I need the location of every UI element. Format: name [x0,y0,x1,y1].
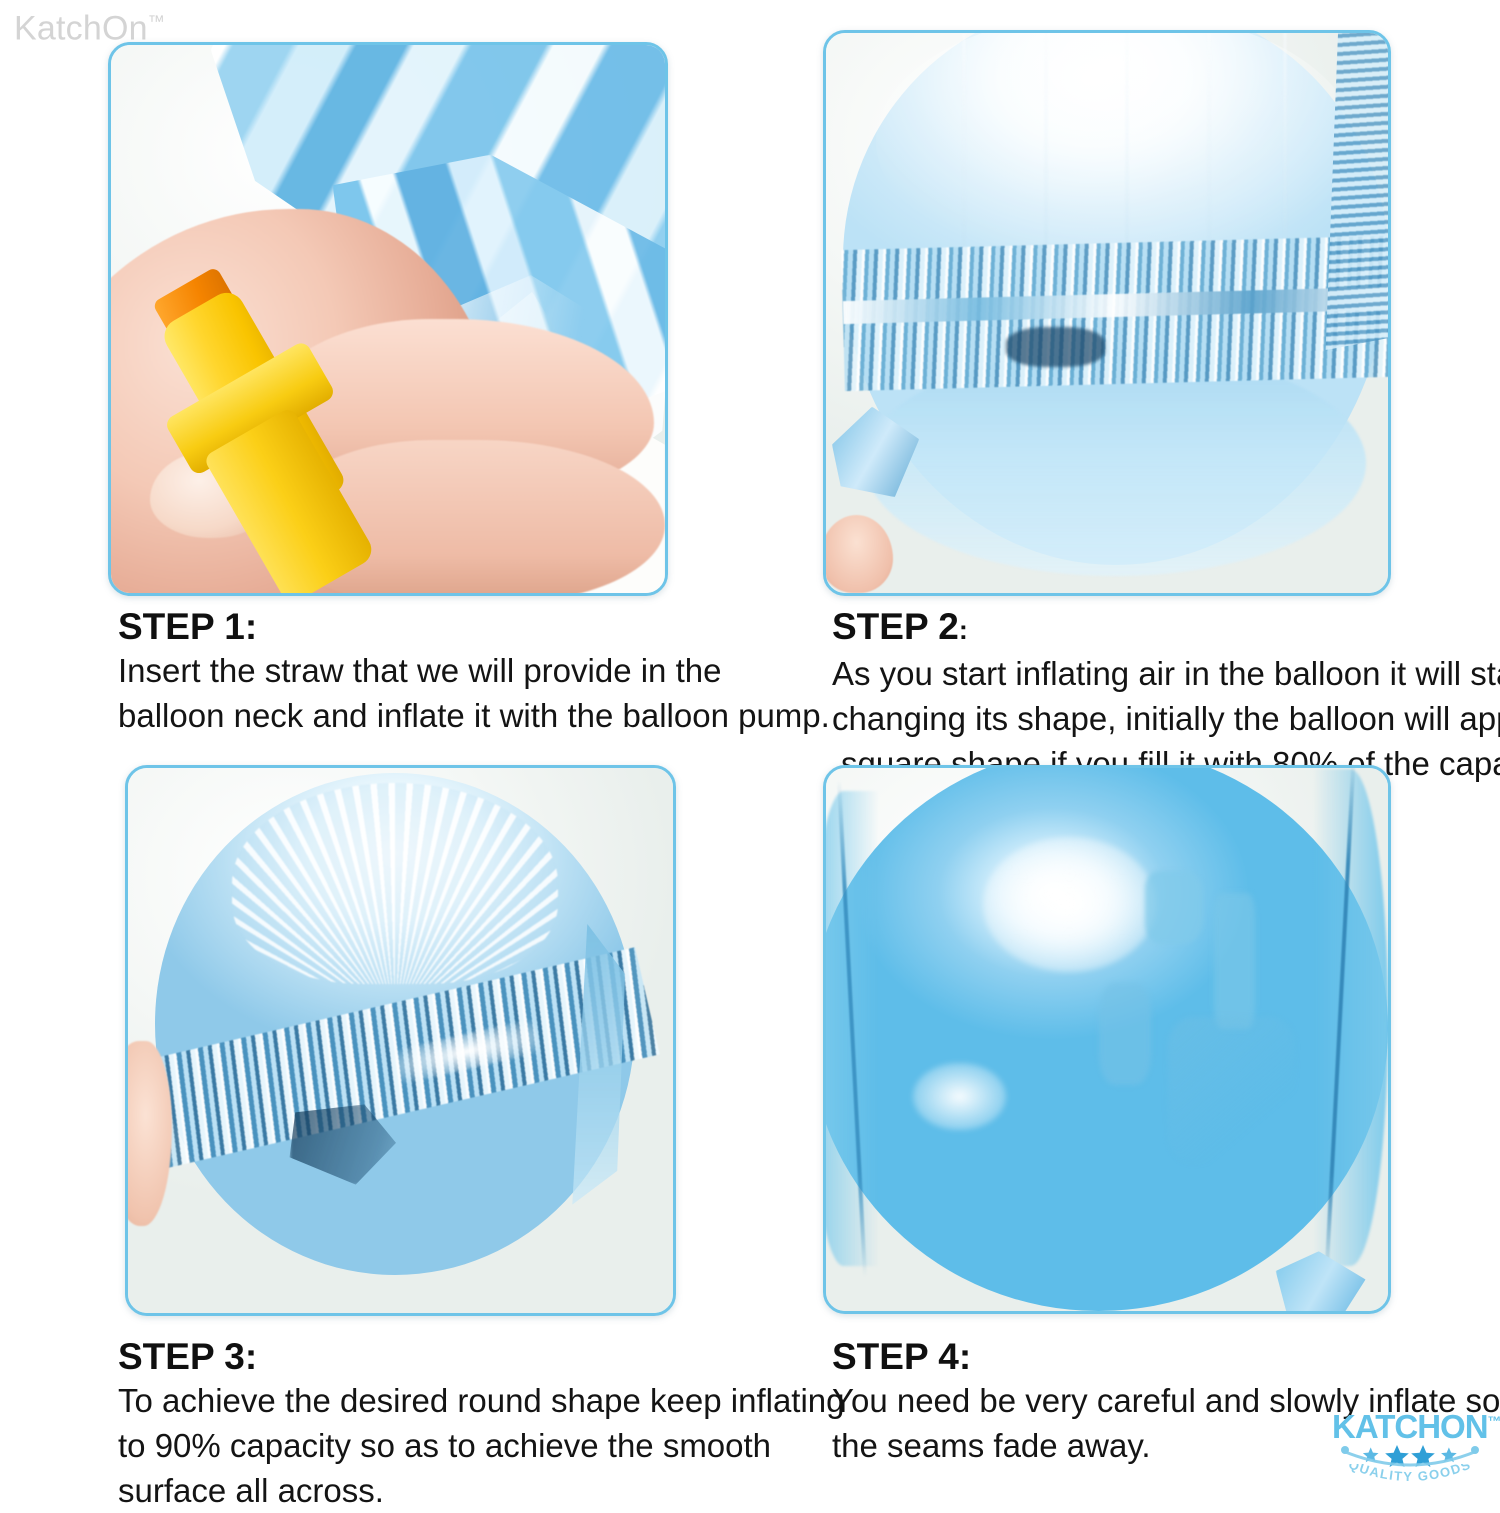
step-3-body-line: to 90% capacity so as to achieve the smo… [118,1423,798,1468]
step-1-photo [111,45,665,593]
balloon-reflection [1145,871,1203,944]
footer-logo-star-arc [1332,1445,1488,1469]
step-1-title: STEP 1: [118,606,778,648]
brand-header-tm: ™ [148,12,165,31]
step-2-title-colon: : [959,615,968,645]
step-3-body-line: surface all across. [118,1468,798,1513]
step-1-title-text: STEP 1 [118,606,245,647]
step-1-body-line: Insert the straw that we will provide in… [118,648,778,693]
footer-logo-wordmark: KATCHON™ [1332,1404,1488,1444]
step-1-caption: STEP 1: Insert the straw that we will pr… [118,606,778,738]
seam-shadow [290,1104,434,1184]
step-1-body-line: balloon neck and inflate it with the bal… [118,693,778,738]
balloon-reflection [1214,893,1255,1029]
balloon-specular-highlight [983,837,1157,973]
step-4-photo [826,768,1388,1311]
step-3-caption: STEP 3: To achieve the desired round sha… [118,1336,798,1513]
step-2-title: STEP 2: [832,606,1492,651]
balloon-reflection [1168,1017,1295,1164]
star-arc-icon [1335,1445,1485,1471]
step-3-photo [128,768,673,1313]
step-3-image-panel [125,765,676,1316]
step-1-title-colon: : [245,606,257,647]
step-2-photo [826,33,1388,593]
step-1-body: Insert the straw that we will provide in… [118,648,778,738]
step-4-title-text: STEP 4 [832,1336,959,1377]
step-1-image-panel [108,42,668,596]
footer-logo-tm: ™ [1488,1413,1500,1429]
seam-shadow [1006,327,1104,367]
step-3-body: To achieve the desired round shape keep … [118,1378,798,1513]
balloon-fan-creases [232,783,558,984]
step-4-title: STEP 4: [832,1336,1492,1378]
step-2-title-text: STEP 2 [832,606,959,647]
partially-inflated-balloon [843,33,1388,565]
footer-brand-logo: KATCHON™ QUALITY GOODS [1332,1404,1488,1490]
step-4-image-panel [823,765,1391,1314]
step-3-title-colon: : [245,1336,257,1377]
step-4-title-colon: : [959,1336,971,1377]
step-2-image-panel [823,30,1391,596]
step-3-title-text: STEP 3 [118,1336,245,1377]
step-3-title: STEP 3: [118,1336,798,1378]
step-2-body-line: As you start inflating air in the balloo… [832,651,1492,696]
step-2-body-line: changing its shape, initially the balloo… [832,696,1492,741]
footer-logo-word: KATCHON [1332,1408,1488,1445]
step-2-caption: STEP 2: As you start inflating air in th… [832,606,1492,786]
balloon-top-highlight [876,33,1356,271]
balloon-secondary-highlight [913,1063,1006,1131]
balloon-reflection [1099,983,1151,1085]
rounder-inflated-balloon [155,773,635,1274]
step-3-body-line: To achieve the desired round shape keep … [118,1378,798,1423]
